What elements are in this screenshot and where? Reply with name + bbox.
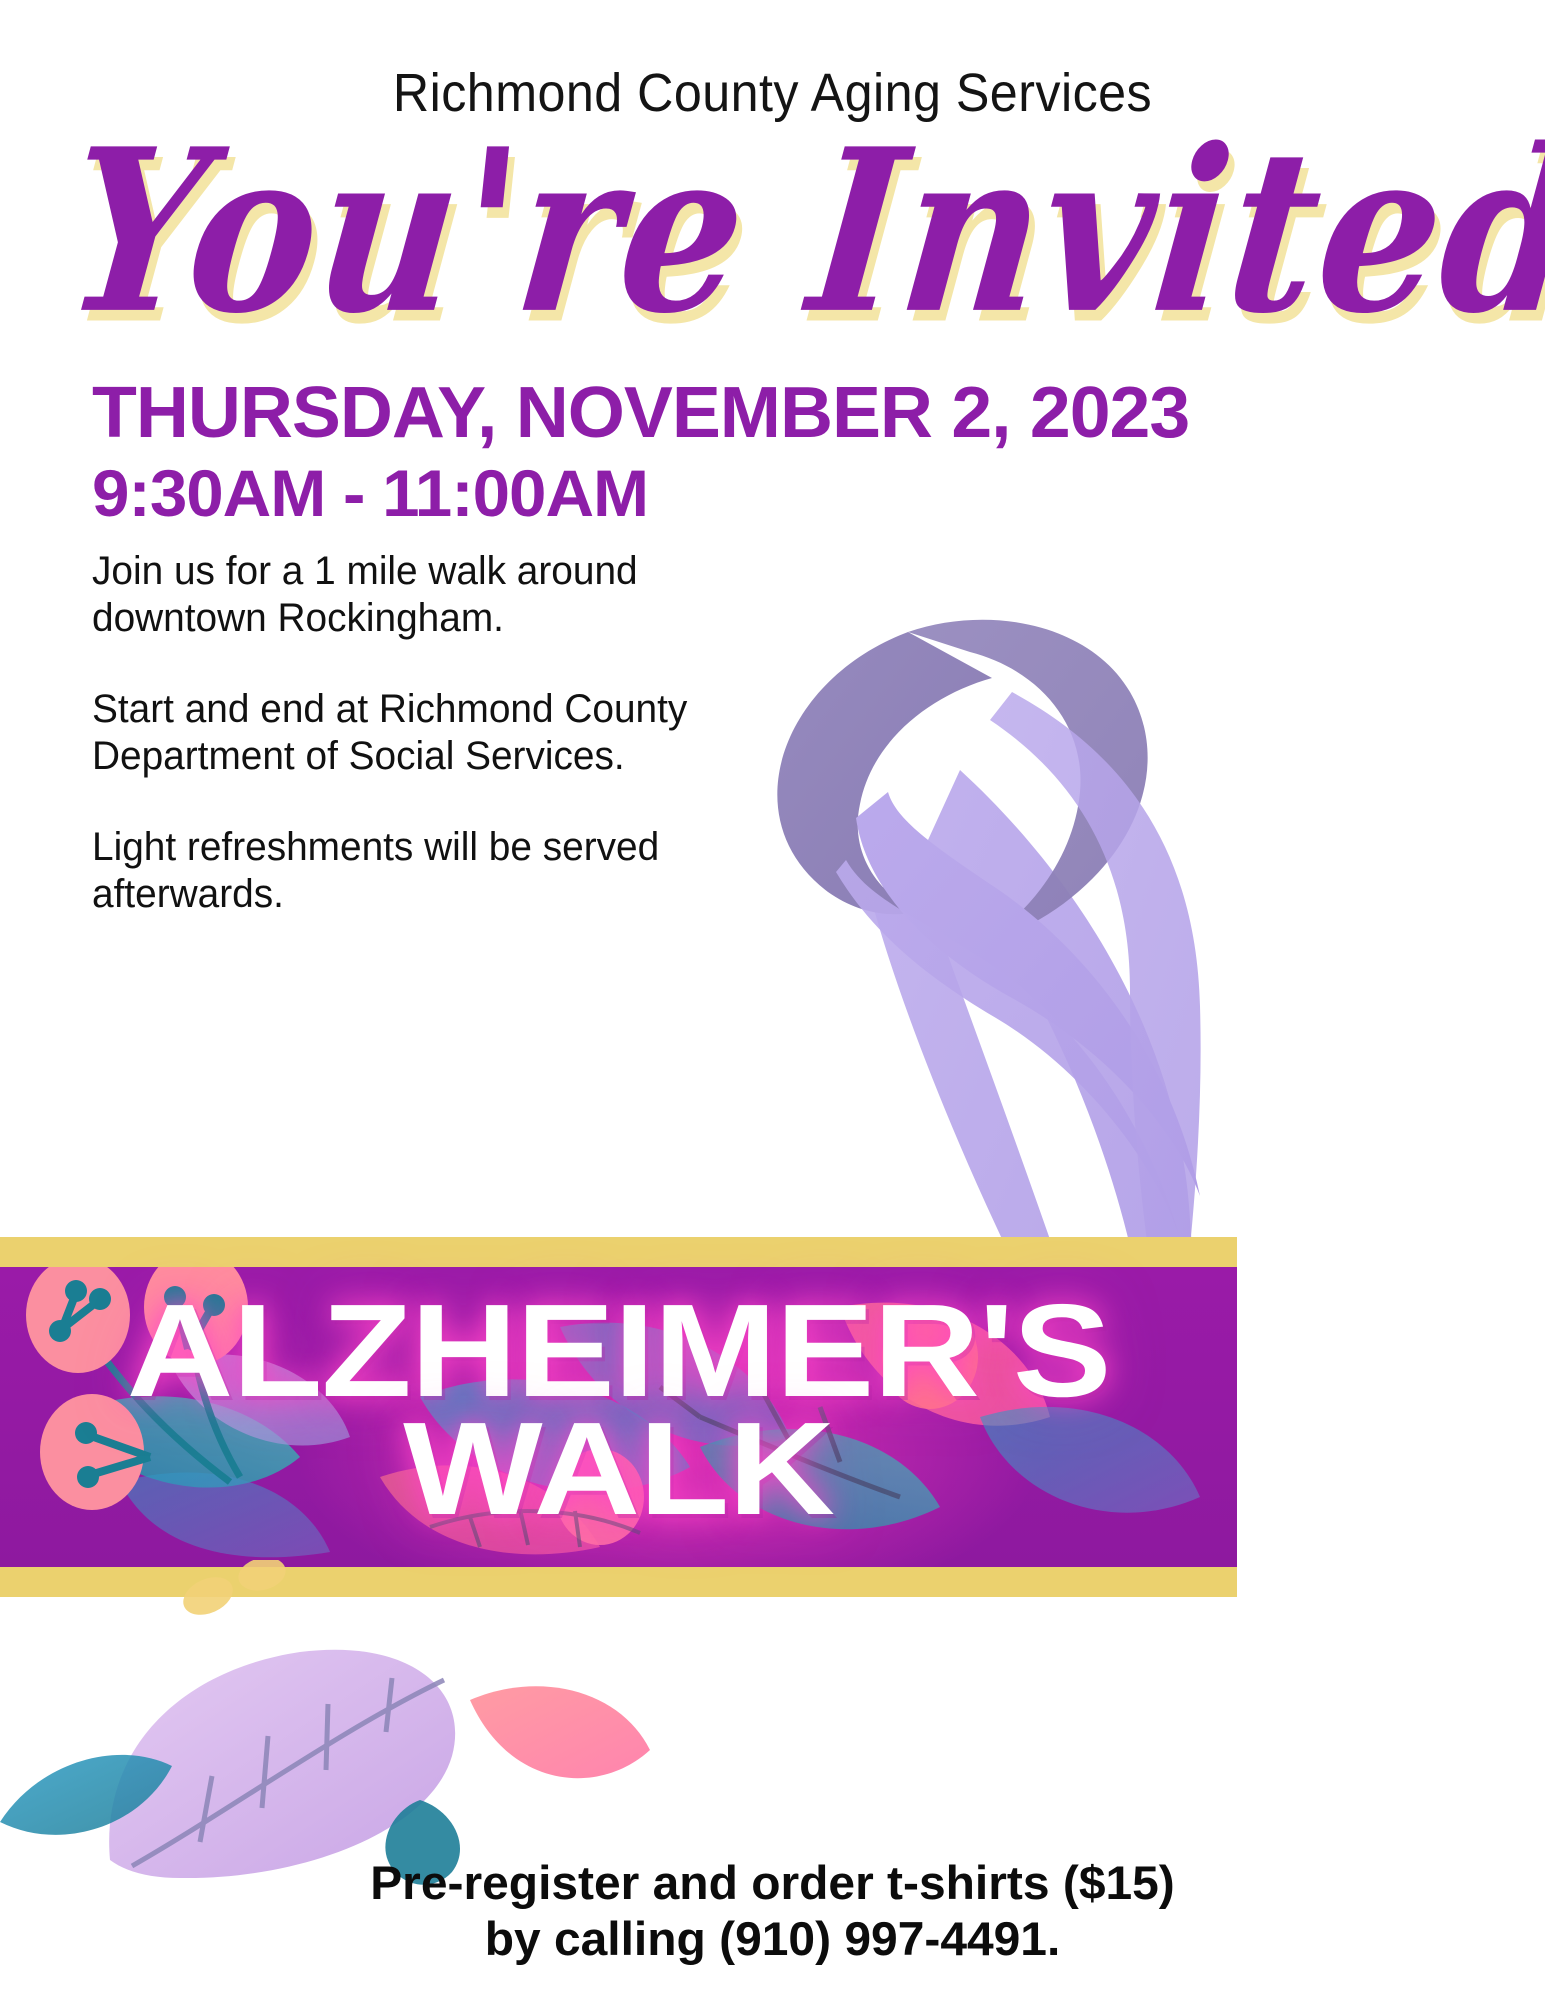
banner-floral-decoration xyxy=(0,1267,1237,1567)
detail-paragraph-3: Light refreshments will be served afterw… xyxy=(92,824,693,918)
banner-gold-band-top xyxy=(0,1237,1237,1267)
event-details: Join us for a 1 mile walk around downtow… xyxy=(92,548,693,918)
event-time: 9:30AM - 11:00AM xyxy=(92,455,648,531)
alzheimers-walk-banner xyxy=(0,1237,1237,1597)
footer-line-2: by calling (910) 997-4491. xyxy=(0,1911,1545,1967)
script-headline: You're Invited! xyxy=(55,90,1165,373)
flyer-page: Richmond County Aging Services You're In… xyxy=(0,0,1545,2000)
detail-paragraph-2: Start and end at Richmond County Departm… xyxy=(92,686,693,780)
flower-icon xyxy=(882,1305,978,1409)
event-date: THURSDAY, NOVEMBER 2, 2023 xyxy=(92,372,1189,454)
footer-line-1: Pre-register and order t-shirts ($15) xyxy=(0,1855,1545,1911)
flower-icon xyxy=(144,1267,248,1365)
bottom-floral-decoration xyxy=(0,1560,700,1890)
leaf-icon xyxy=(470,1686,650,1778)
flower-icon xyxy=(26,1267,130,1373)
script-headline-wrap: You're Invited! xyxy=(70,112,1150,382)
detail-paragraph-1: Join us for a 1 mile walk around downtow… xyxy=(92,548,693,642)
registration-info: Pre-register and order t-shirts ($15) by… xyxy=(0,1855,1545,1967)
banner-purple-field xyxy=(0,1267,1237,1567)
